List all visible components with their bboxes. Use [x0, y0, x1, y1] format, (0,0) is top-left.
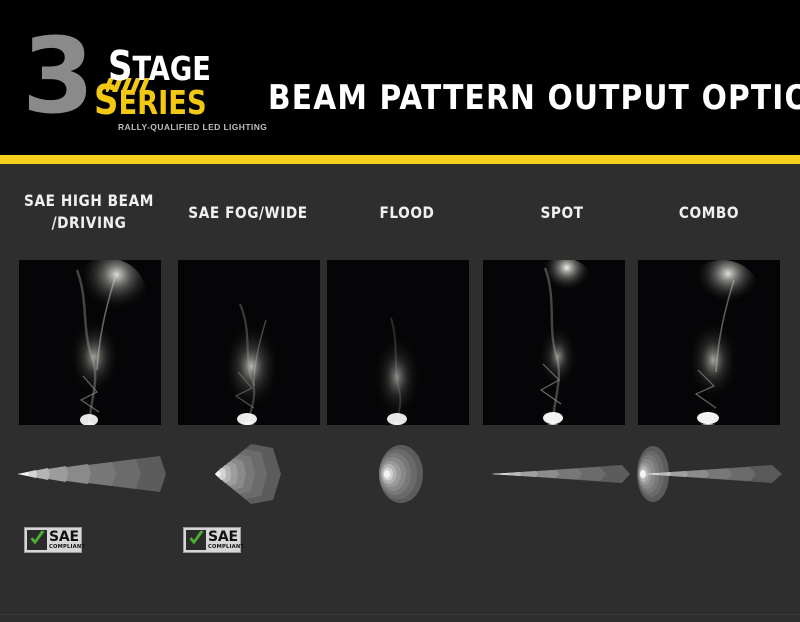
checkmark-icon [29, 530, 46, 549]
sae-check-container [27, 530, 47, 550]
beam-diagram-flood [327, 443, 487, 505]
column-label-line2: /DRIVING [13, 212, 165, 234]
sae-badge-text: SAE COMPLIANT [49, 530, 85, 550]
column-label-sae-fog-wide: SAE FOG/WIDE [172, 202, 324, 224]
column-label-line1: COMBO [633, 202, 785, 224]
column-label-flood: FLOOD [331, 202, 483, 224]
brand-series-rest: ERIES [118, 83, 206, 122]
beam-photo-spot [483, 260, 625, 425]
beam-pattern-infographic: 3 STAGE SERIES RALLY-QUALIFIED LED LIGHT… [0, 0, 800, 622]
column-label-sae-high-beam-driving: SAE HIGH BEAM /DRIVING [13, 190, 165, 234]
column-label-line1: SAE HIGH BEAM [13, 190, 165, 212]
beam-photo-combo [638, 260, 780, 425]
brand-tagline: RALLY-QUALIFIED LED LIGHTING [118, 122, 267, 132]
beam-photo-flood [327, 260, 469, 425]
beam-photo-sae-fog-wide [178, 260, 320, 425]
beam-shape-combo [630, 443, 790, 505]
beam-shape-fog [169, 443, 329, 505]
sae-check-container [186, 530, 206, 550]
sae-badge-main: SAE [49, 530, 85, 544]
beam-shape-flood [327, 443, 487, 505]
beam-diagram-sae-high-beam-driving [10, 443, 170, 505]
beam-diagram-combo [630, 443, 790, 505]
beam-photo-image [638, 260, 780, 425]
sae-compliant-badge-sae-high-beam-driving: SAE COMPLIANT [24, 527, 82, 553]
column-label-spot: SPOT [486, 202, 638, 224]
brand-series-initial: S [94, 76, 118, 124]
beam-photo-sae-high-beam-driving [19, 260, 161, 425]
brand-word-series: SERIES [94, 84, 207, 119]
beam-photo-image [483, 260, 625, 425]
sae-badge-text: SAE COMPLIANT [208, 530, 244, 550]
beam-photo-image [19, 260, 161, 425]
sae-badge-sub: COMPLIANT [49, 545, 85, 550]
checkmark-icon [188, 530, 205, 549]
beam-diagram-spot [482, 443, 642, 505]
column-label-line1: FLOOD [331, 202, 483, 224]
column-label-line1: SPOT [486, 202, 638, 224]
brand-word-stage: STAGE [108, 50, 211, 85]
sae-badge-main: SAE [208, 530, 244, 544]
page-title: BEAM PATTERN OUTPUT OPTIONS [268, 78, 800, 118]
sae-compliant-badge-sae-fog-wide: SAE COMPLIANT [183, 527, 241, 553]
column-label-line1: SAE FOG/WIDE [172, 202, 324, 224]
column-label-combo: COMBO [633, 202, 785, 224]
brand-numeral-3: 3 [22, 24, 90, 128]
beam-photo-image [178, 260, 320, 425]
beam-diagram-sae-fog-wide [169, 443, 329, 505]
beam-photo-image [327, 260, 469, 425]
yellow-accent-divider [0, 155, 800, 164]
beam-shape-driving [10, 443, 170, 505]
sae-badge-sub: COMPLIANT [208, 545, 244, 550]
header-bar: 3 STAGE SERIES RALLY-QUALIFIED LED LIGHT… [0, 0, 800, 155]
beam-shape-spot [482, 443, 642, 505]
brand-logo: 3 STAGE SERIES RALLY-QUALIFIED LED LIGHT… [22, 28, 262, 132]
bottom-edge [0, 614, 800, 622]
